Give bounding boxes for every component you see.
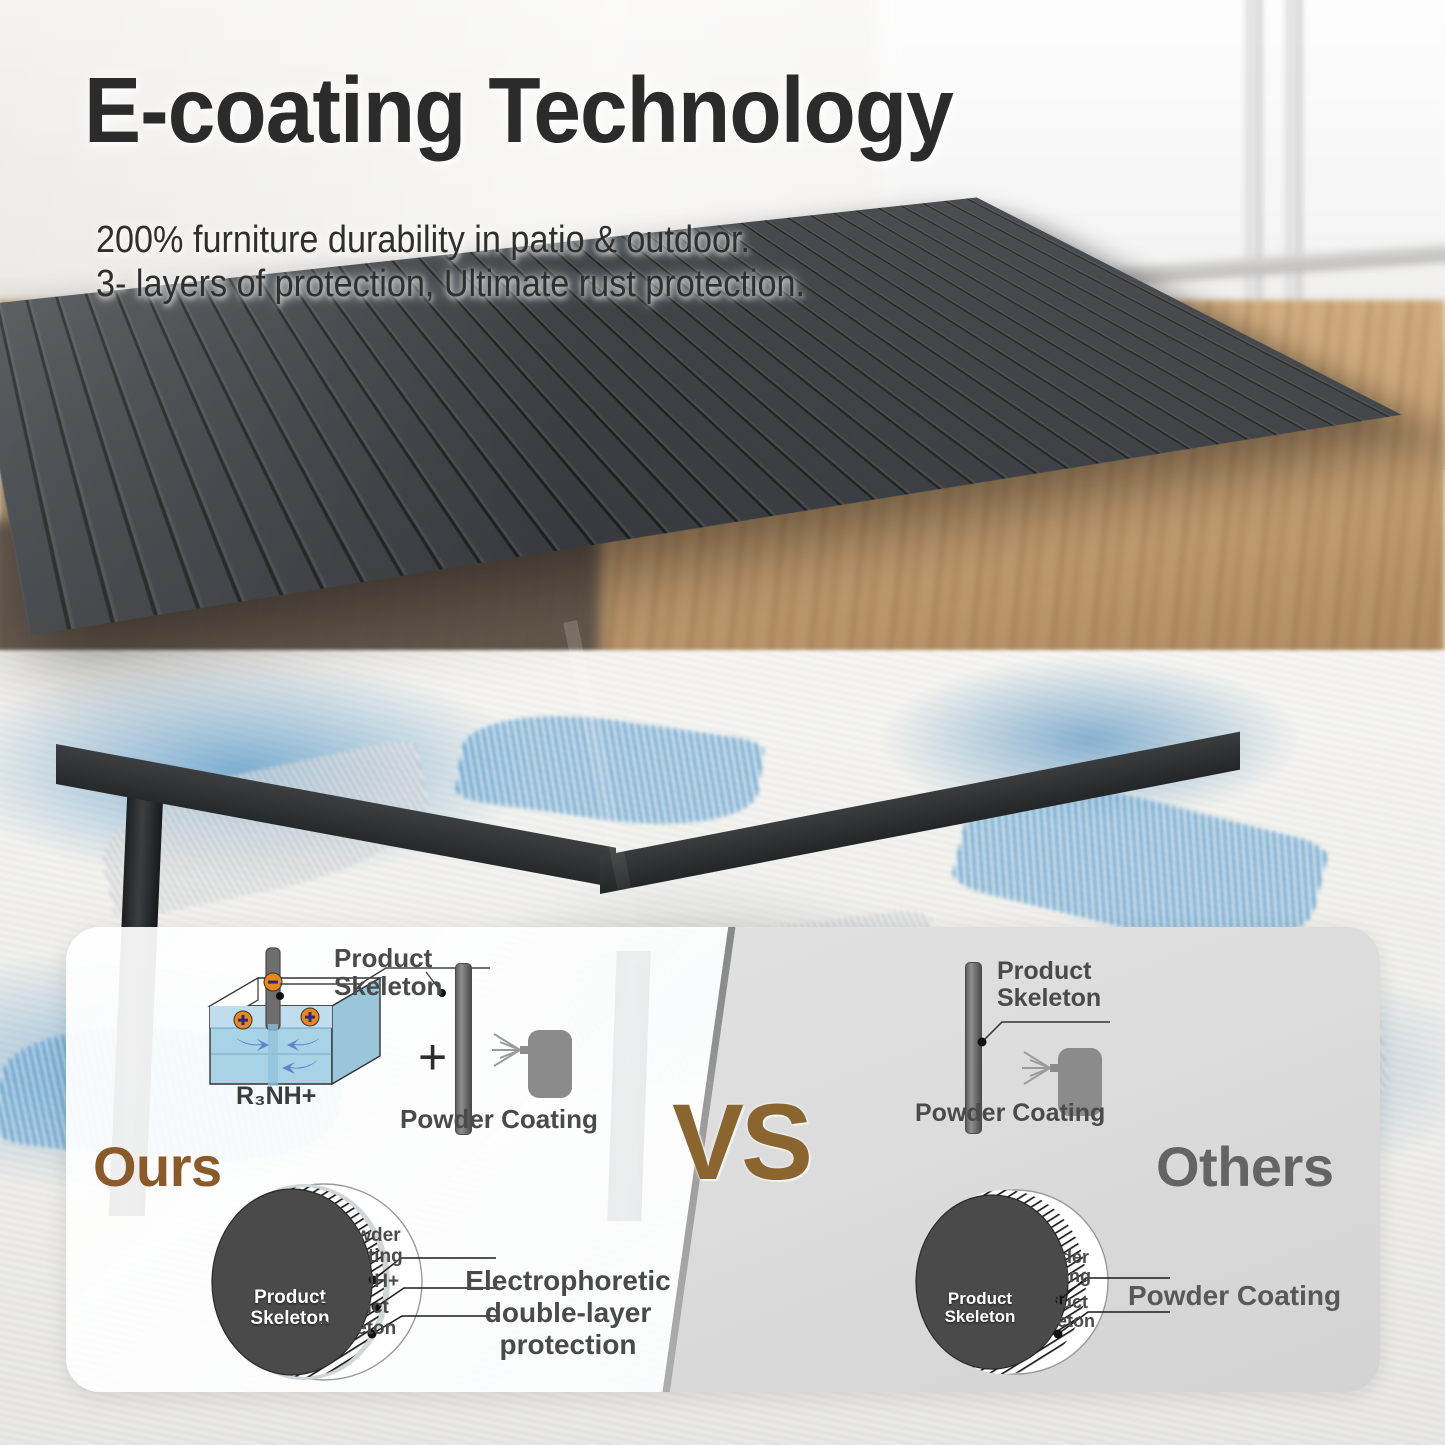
others-product-skeleton-label: Product Skeleton	[997, 958, 1101, 1012]
ion-positive-badge	[301, 1008, 319, 1026]
leader-dot	[276, 992, 284, 1000]
powder-spray-gun-icon	[492, 1028, 602, 1108]
electrode-submerged-part	[268, 1024, 278, 1086]
page-title: E-coating Technology	[84, 64, 1059, 157]
patio-dining-table	[0, 296, 1280, 946]
ours-product-skeleton-label: Product Skeleton	[334, 944, 442, 1000]
others-layer-label-powder-coating: Powder Coating	[1024, 1248, 1091, 1287]
ours-caption: Electrophoretic double-layer protection	[444, 1265, 692, 1361]
others-layer-label-product-skeleton: Product Skeleton	[1020, 1293, 1095, 1332]
subtitle-line-2: 3- layers of protection, Ultimate rust p…	[96, 262, 996, 307]
product-marketing-poster: E-coating Technology 200% furniture dura…	[0, 0, 1445, 1445]
others-title: Others	[1156, 1134, 1334, 1199]
ours-layer-label-solution: R₃NH+	[338, 1272, 399, 1293]
leader-dot	[978, 1038, 987, 1047]
ours-title: Ours	[93, 1134, 222, 1199]
ours-solution-label: R₃NH+	[236, 1083, 316, 1110]
table-extension-seam	[563, 620, 646, 966]
ours-layer-label-powder-coating: Powder Coating	[332, 1226, 403, 1267]
ours-layer-label-product-skeleton: Product Skeleton	[317, 1298, 396, 1339]
ours-powder-coating-label: Powder Coating	[400, 1105, 598, 1133]
powder-spray-icon	[1022, 1052, 1050, 1084]
subtitle-line-1: 200% furniture durability in patio & out…	[96, 218, 996, 263]
ion-positive-badge	[234, 1011, 252, 1029]
others-powder-coating-label: Powder Coating	[915, 1100, 1105, 1127]
vs-label: VS	[672, 1079, 810, 1204]
plus-symbol: +	[418, 1032, 447, 1082]
ion-negative-badge	[264, 973, 282, 991]
table-apron	[600, 732, 1240, 894]
others-caption: Powder Coating	[1128, 1280, 1341, 1312]
skeleton-leader-line	[982, 1022, 1110, 1042]
